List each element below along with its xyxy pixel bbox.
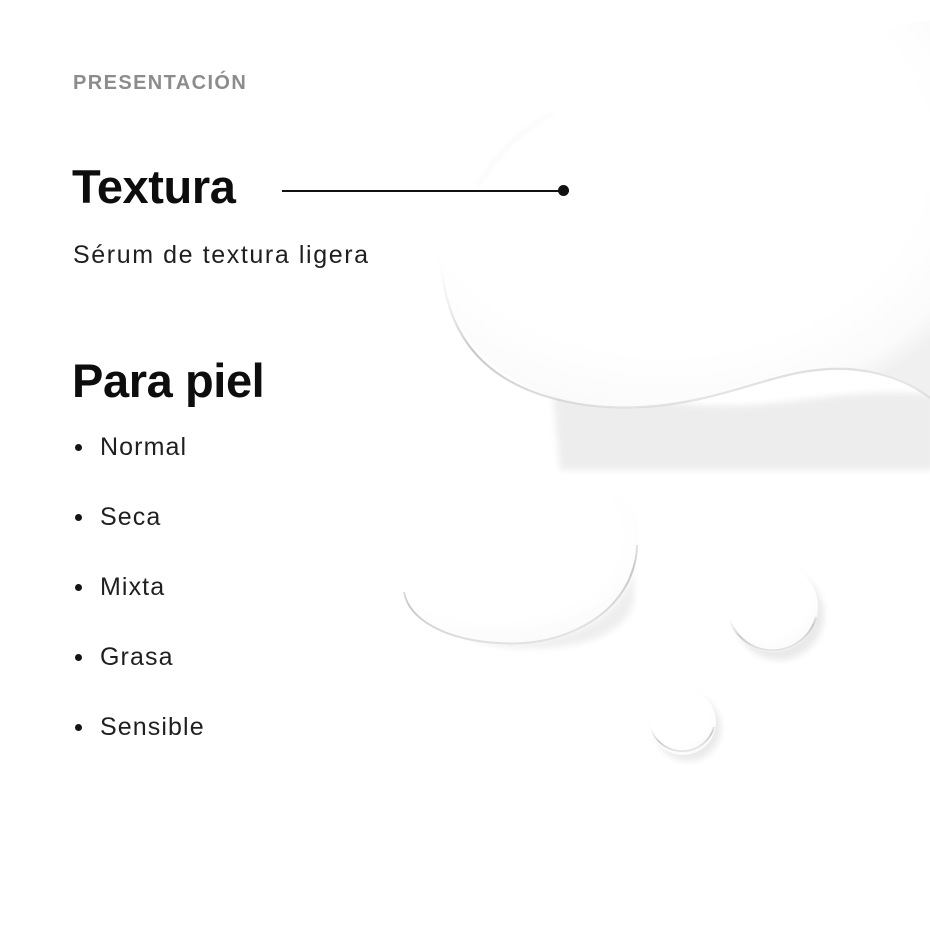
- list-item-label: Mixta: [100, 573, 165, 601]
- bullet-icon: [75, 444, 82, 451]
- list-item-label: Normal: [100, 433, 187, 461]
- bullet-icon: [75, 514, 82, 521]
- list-item: Grasa: [72, 642, 205, 712]
- bullet-icon: [75, 654, 82, 661]
- list-item-label: Grasa: [100, 643, 174, 671]
- skin-type-heading: Para piel: [72, 357, 264, 404]
- list-item: Seca: [72, 502, 205, 572]
- slide-content: PRESENTACIÓN Textura Sérum de textura li…: [0, 0, 930, 930]
- list-item: Mixta: [72, 572, 205, 642]
- list-item-label: Sensible: [100, 713, 205, 741]
- skin-type-list: Normal Seca Mixta Grasa Sensible: [72, 432, 205, 782]
- section-eyebrow: PRESENTACIÓN: [73, 72, 247, 95]
- texture-heading: Textura: [72, 163, 236, 210]
- presentation-slide: PRESENTACIÓN Textura Sérum de textura li…: [0, 0, 930, 930]
- list-item: Sensible: [72, 712, 205, 782]
- list-item-label: Seca: [100, 503, 161, 531]
- bullet-icon: [75, 584, 82, 591]
- list-item: Normal: [72, 432, 205, 502]
- leader-line-dot: [558, 185, 569, 196]
- texture-subtitle: Sérum de textura ligera: [73, 243, 370, 268]
- leader-line-stroke: [282, 190, 569, 192]
- leader-line: [282, 186, 569, 198]
- bullet-icon: [75, 724, 82, 731]
